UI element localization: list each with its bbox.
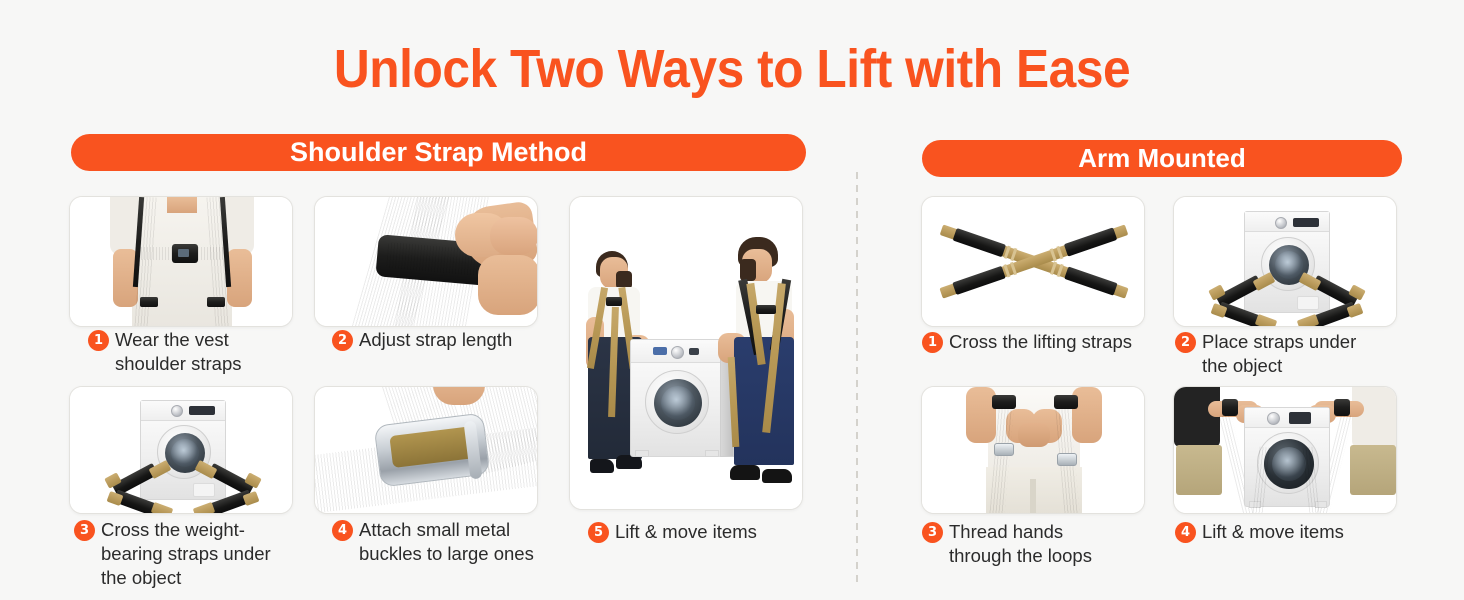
step-badge: 2 xyxy=(1175,332,1196,353)
step-caption-2-right: 2 Place straps under the object xyxy=(1175,330,1410,378)
step-caption-text: Lift & move items xyxy=(615,520,757,544)
step-image-card-attach-buckles xyxy=(314,386,538,514)
step-caption-3-right: 3 Thread hands through the loops xyxy=(922,520,1152,568)
person-wearing-harness-vest-image xyxy=(70,197,292,326)
panel-arm-mounted: Arm Mounted xyxy=(910,0,1410,600)
step-caption-2-left: 2 Adjust strap length xyxy=(332,328,552,352)
step-image-card-lift-and-move xyxy=(569,196,803,510)
panel-header-shoulder-strap-method: Shoulder Strap Method xyxy=(71,134,806,171)
step-image-card-place-straps-under xyxy=(1173,196,1397,327)
step-badge: 4 xyxy=(1175,522,1196,543)
step-image-card-cross-lifting-straps xyxy=(921,196,1145,327)
step-caption-text: Cross the lifting straps xyxy=(949,330,1132,354)
step-image-card-wear-vest xyxy=(69,196,293,327)
step-badge: 1 xyxy=(88,330,109,351)
step-caption-1-left: 1 Wear the vest shoulder straps xyxy=(88,328,303,376)
panel-divider xyxy=(856,172,858,587)
person-threading-hands-through-loops-image xyxy=(922,387,1144,513)
metal-buckle-on-webbing-image xyxy=(315,387,537,513)
step-caption-text: Thread hands through the loops xyxy=(949,520,1092,568)
step-badge: 4 xyxy=(332,520,353,541)
two-movers-lifting-washing-machine-image xyxy=(570,197,802,509)
two-people-arm-lifting-washing-machine-image xyxy=(1174,387,1396,513)
step-badge: 3 xyxy=(74,520,95,541)
step-image-card-thread-hands xyxy=(921,386,1145,514)
step-caption-4-right: 4 Lift & move items xyxy=(1175,520,1400,544)
step-badge: 2 xyxy=(332,330,353,351)
step-caption-3-left: 3 Cross the weight- bearing straps under… xyxy=(74,518,304,590)
step-image-card-lift-and-move-arm xyxy=(1173,386,1397,514)
step-caption-text: Cross the weight- bearing straps under t… xyxy=(101,518,271,590)
step-caption-5-left: 5 Lift & move items xyxy=(588,520,803,544)
two-crossed-lifting-straps-image xyxy=(922,197,1144,326)
panel-header-arm-mounted: Arm Mounted xyxy=(922,140,1402,177)
step-caption-4-left: 4 Attach small metal buckles to large on… xyxy=(332,518,557,566)
step-badge: 3 xyxy=(922,522,943,543)
step-image-card-adjust-strap xyxy=(314,196,538,327)
step-caption-1-right: 1 Cross the lifting straps xyxy=(922,330,1162,354)
step-caption-text: Attach small metal buckles to large ones xyxy=(359,518,534,566)
step-caption-text: Wear the vest shoulder straps xyxy=(115,328,241,376)
step-badge: 5 xyxy=(588,522,609,543)
step-image-card-cross-straps xyxy=(69,386,293,514)
washing-machine-with-straps-underneath-image xyxy=(1174,197,1396,326)
step-caption-text: Lift & move items xyxy=(1202,520,1344,544)
step-caption-text: Place straps under the object xyxy=(1202,330,1356,378)
washing-machine-with-crossed-straps-image xyxy=(70,387,292,513)
step-caption-text: Adjust strap length xyxy=(359,328,512,352)
panel-shoulder-strap-method: Shoulder Strap Method xyxy=(60,0,820,600)
hand-adjusting-strap-buckle-image xyxy=(315,197,537,326)
step-badge: 1 xyxy=(922,332,943,353)
